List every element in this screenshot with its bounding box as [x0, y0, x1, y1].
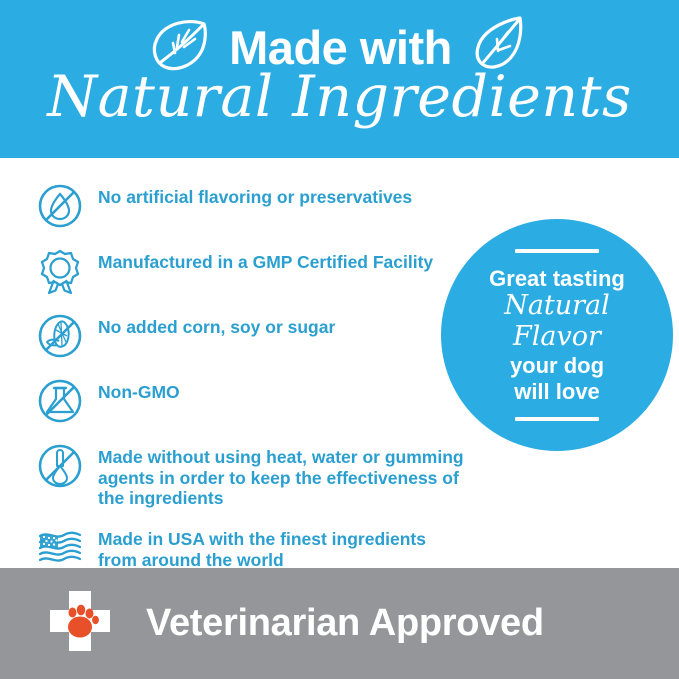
features-list: No artificial flavoring or preservatives… — [34, 180, 464, 587]
no-corn-icon — [34, 310, 86, 362]
feature-item: Made in USA with the finest ingredients … — [34, 522, 464, 574]
badge-script-1: Natural — [504, 292, 610, 320]
header-banner: Made with Natural Ingredients — [0, 0, 679, 158]
usa-flag-icon — [34, 522, 86, 574]
feature-label: No artificial flavoring or preservatives — [86, 180, 412, 208]
badge-divider-bottom — [515, 417, 599, 421]
badge-script-2: Flavor — [513, 323, 601, 351]
feature-item: Non-GMO — [34, 375, 464, 427]
features-section: No artificial flavoring or preservatives… — [0, 158, 679, 565]
header-script-title: Natural Ingredients — [0, 68, 679, 128]
no-heat-water-icon — [34, 440, 86, 492]
feature-label: Made without using heat, water or gummin… — [86, 440, 464, 509]
feature-item: No artificial flavoring or preservatives — [34, 180, 464, 232]
award-ribbon-icon — [34, 245, 86, 297]
feature-label: Made in USA with the finest ingredients … — [86, 522, 464, 570]
badge-line-1: Great tasting — [489, 266, 625, 292]
footer-title: Veterinarian Approved — [146, 602, 544, 645]
badge-line-3: will love — [514, 379, 600, 405]
feature-label: Non-GMO — [86, 375, 180, 403]
medical-cross-paw-icon — [44, 585, 116, 662]
feature-item: No added corn, soy or sugar — [34, 310, 464, 362]
feature-label: Manufactured in a GMP Certified Facility — [86, 245, 433, 273]
feature-item: Manufactured in a GMP Certified Facility — [34, 245, 464, 297]
feature-label: No added corn, soy or sugar — [86, 310, 335, 338]
footer-banner: Veterinarian Approved — [0, 568, 679, 679]
badge-divider-top — [515, 249, 599, 253]
feature-item: Made without using heat, water or gummin… — [34, 440, 464, 509]
infographic-page: Made with Natural Ingredients — [0, 0, 679, 679]
no-flask-icon — [34, 375, 86, 427]
badge-line-2: your dog — [510, 353, 604, 379]
great-tasting-badge: Great tasting Natural Flavor your dog wi… — [441, 219, 673, 451]
no-water-droplet-icon — [34, 180, 86, 232]
